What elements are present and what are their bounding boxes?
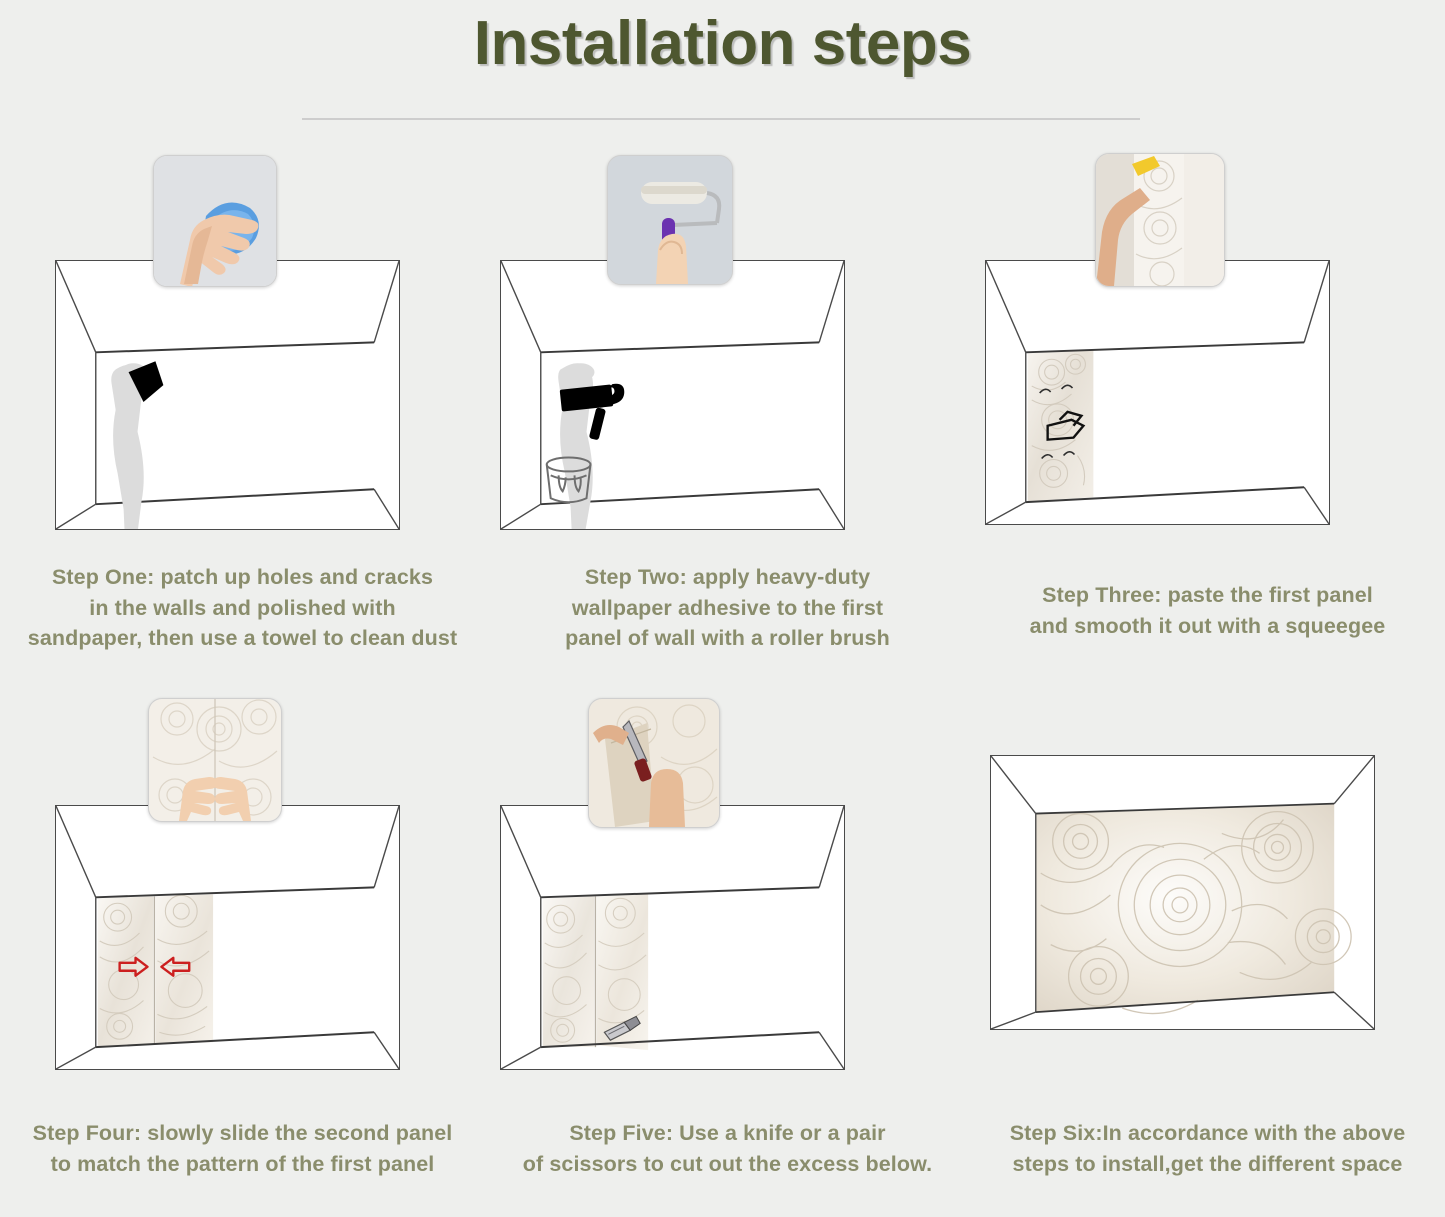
step-six-room-diagram bbox=[990, 755, 1375, 1030]
step-five-room-diagram bbox=[500, 805, 845, 1070]
step-three-caption: Step Three: paste the first panel and sm… bbox=[970, 580, 1445, 641]
title-divider bbox=[302, 118, 1140, 120]
step-five-caption: Step Five: Use a knife or a pair of scis… bbox=[485, 1118, 970, 1179]
caption-line: sandpaper, then use a towel to clean dus… bbox=[0, 623, 485, 654]
step-two-thumbnail bbox=[607, 155, 733, 285]
caption-line: Step Six:In accordance with the above bbox=[970, 1118, 1445, 1149]
step-two-cell: Step Two: apply heavy-duty wallpaper adh… bbox=[485, 150, 970, 690]
caption-line: Step Five: Use a knife or a pair bbox=[485, 1118, 970, 1149]
page-title: Installation steps bbox=[474, 8, 971, 79]
caption-line: and smooth it out with a squeegee bbox=[970, 611, 1445, 642]
step-four-caption: Step Four: slowly slide the second panel… bbox=[0, 1118, 485, 1179]
step-six-cell: Step Six:In accordance with the above st… bbox=[970, 690, 1445, 1217]
caption-line: Step One: patch up holes and cracks bbox=[0, 562, 485, 593]
step-two-caption: Step Two: apply heavy-duty wallpaper adh… bbox=[485, 562, 970, 654]
step-five-cell: Step Five: Use a knife or a pair of scis… bbox=[485, 690, 970, 1217]
caption-line: to match the pattern of the first panel bbox=[0, 1149, 485, 1180]
step-three-thumbnail bbox=[1095, 153, 1225, 287]
step-four-thumbnail bbox=[148, 698, 282, 822]
caption-line: Step Four: slowly slide the second panel bbox=[0, 1118, 485, 1149]
step-two-room-diagram bbox=[500, 260, 845, 530]
step-four-room-diagram bbox=[55, 805, 400, 1070]
step-one-thumbnail bbox=[153, 155, 277, 287]
step-one-room-diagram bbox=[55, 260, 400, 530]
step-one-cell: Step One: patch up holes and cracks in t… bbox=[0, 150, 485, 690]
page-header: Installation steps bbox=[0, 0, 1445, 79]
caption-line: Step Three: paste the first panel bbox=[970, 580, 1445, 611]
caption-line: Step Two: apply heavy-duty bbox=[485, 562, 970, 593]
step-one-caption: Step One: patch up holes and cracks in t… bbox=[0, 562, 485, 654]
caption-line: steps to install,get the different space bbox=[970, 1149, 1445, 1180]
installation-steps-infographic: Installation steps bbox=[0, 0, 1445, 1217]
caption-line: in the walls and polished with bbox=[0, 593, 485, 624]
caption-line: of scissors to cut out the excess below. bbox=[485, 1149, 970, 1180]
step-four-cell: Step Four: slowly slide the second panel… bbox=[0, 690, 485, 1217]
caption-line: panel of wall with a roller brush bbox=[485, 623, 970, 654]
step-three-room-diagram bbox=[985, 260, 1330, 525]
step-five-thumbnail bbox=[588, 698, 720, 828]
steps-grid: Step One: patch up holes and cracks in t… bbox=[0, 150, 1445, 1217]
step-three-cell: Step Three: paste the first panel and sm… bbox=[970, 150, 1445, 690]
step-six-caption: Step Six:In accordance with the above st… bbox=[970, 1118, 1445, 1179]
caption-line: wallpaper adhesive to the first bbox=[485, 593, 970, 624]
